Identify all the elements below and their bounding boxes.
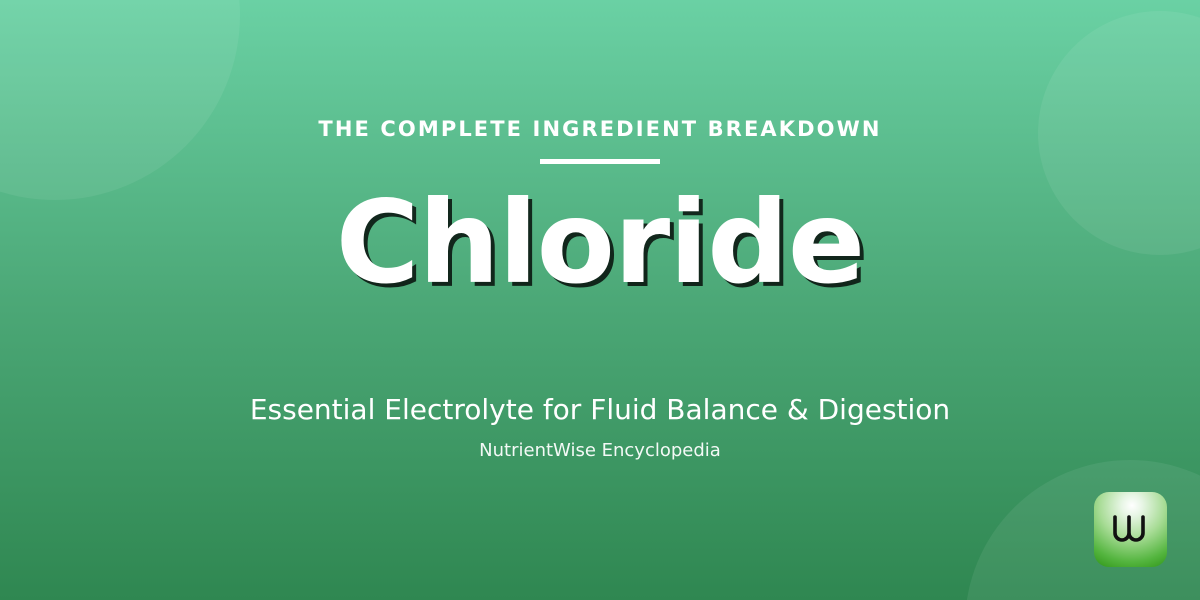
title-divider bbox=[540, 159, 660, 164]
w-monogram-icon bbox=[1109, 513, 1153, 547]
hero-content: THE COMPLETE INGREDIENT BREAKDOWN Chlori… bbox=[0, 0, 1200, 600]
brand-label: NutrientWise Encyclopedia bbox=[479, 440, 721, 462]
hero-banner: THE COMPLETE INGREDIENT BREAKDOWN Chlori… bbox=[0, 0, 1200, 600]
eyebrow-label: THE COMPLETE INGREDIENT BREAKDOWN bbox=[318, 119, 881, 140]
page-title: Chloride bbox=[336, 186, 864, 300]
brand-logo-badge bbox=[1094, 492, 1167, 567]
page-subtitle: Essential Electrolyte for Fluid Balance … bbox=[250, 393, 950, 427]
